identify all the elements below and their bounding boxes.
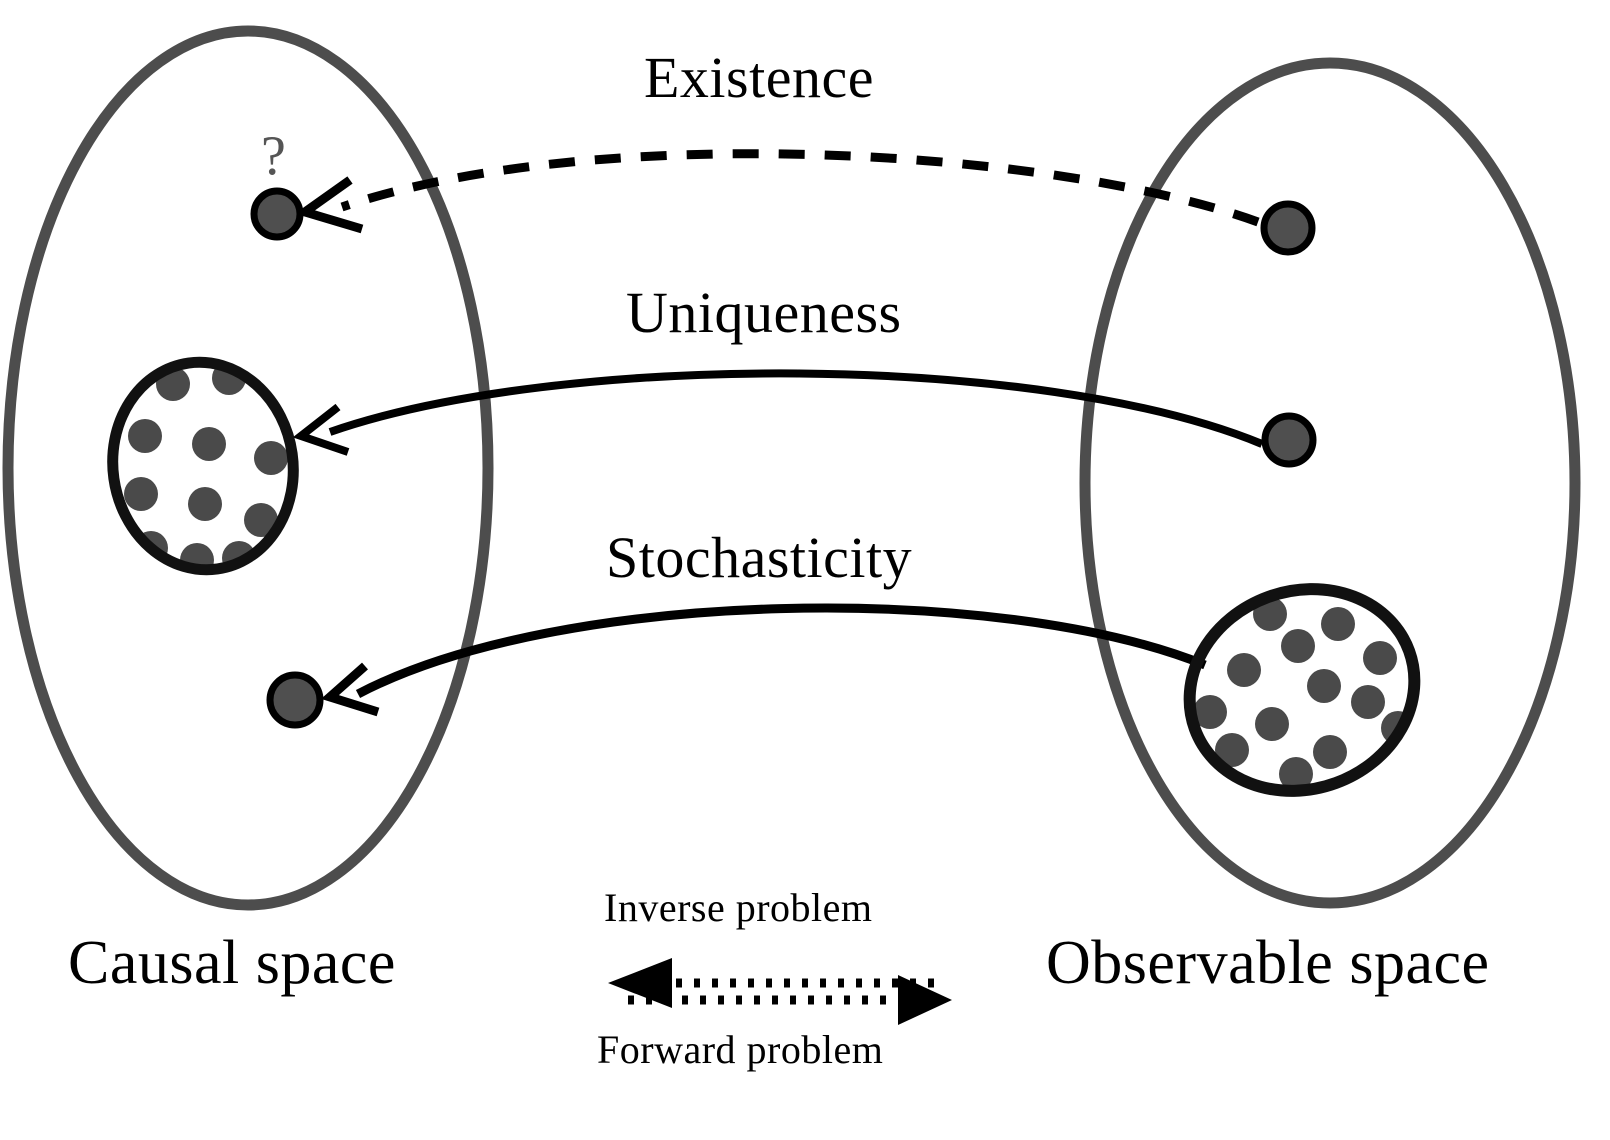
existence-arrowhead-icon [305, 180, 362, 229]
stochasticity-label: Stochasticity [606, 524, 912, 591]
set-dot [1351, 685, 1385, 719]
set-dot [192, 427, 226, 461]
legend-forward-label: Forward problem [597, 1026, 883, 1073]
observable-space-ellipse [1085, 63, 1575, 903]
causal-space-ellipse [8, 31, 488, 905]
uniqueness-label: Uniqueness [626, 279, 902, 346]
observable-point-1 [1264, 204, 1312, 252]
existence-arrow-line [342, 154, 1258, 222]
causal-point-unknown [254, 191, 300, 237]
diagram-canvas: ? Existence Uniqueness Stochasticity Cau… [0, 0, 1610, 1140]
causal-set-dotted [99, 350, 306, 581]
set-dot [1307, 669, 1341, 703]
set-dot [188, 487, 222, 521]
stochasticity-arrow-line [358, 608, 1205, 694]
set-dot [1227, 653, 1261, 687]
set-dot [1281, 629, 1315, 663]
existence-label: Existence [644, 44, 874, 111]
set-dot [124, 477, 158, 511]
set-dot [1321, 607, 1355, 641]
causal-point-bottom [270, 675, 320, 725]
observable-space-label: Observable space [1046, 928, 1490, 999]
set-dot [1363, 641, 1397, 675]
observable-point-2 [1265, 416, 1313, 464]
set-dot [254, 441, 288, 475]
set-dot [128, 419, 162, 453]
set-dot [1255, 707, 1289, 741]
observable-set-dotted [1161, 558, 1443, 822]
legend-forward-arrowhead-icon [898, 975, 952, 1025]
set-dot [1313, 735, 1347, 769]
causal-space-label: Causal space [68, 928, 396, 999]
unknown-question-mark-icon: ? [261, 128, 286, 184]
legend-inverse-arrowhead-icon [608, 958, 672, 1008]
legend-inverse-label: Inverse problem [604, 884, 873, 931]
uniqueness-arrow-line [330, 373, 1262, 444]
